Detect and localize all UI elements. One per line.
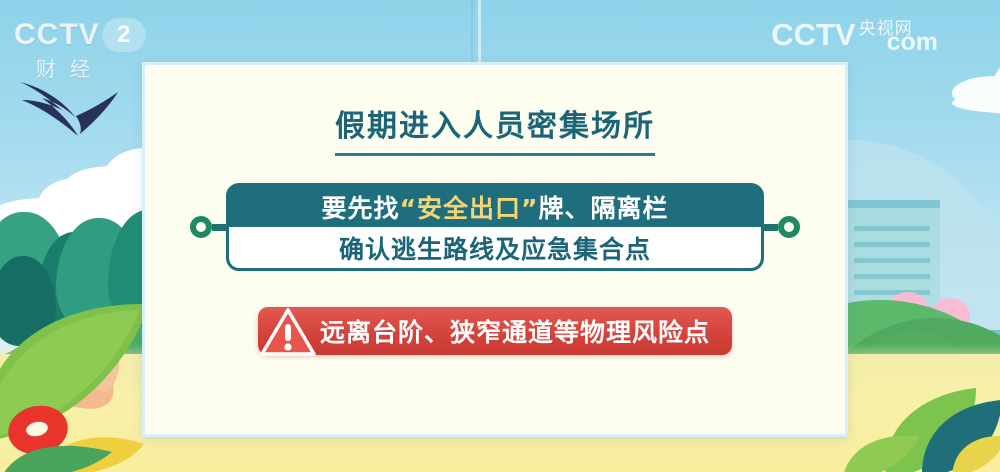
banner-body: 要先找 “安全出口” 牌、隔离栏 确认逃生路线及应急集合点 (226, 183, 764, 271)
cctv-com-suffix: com (887, 28, 938, 57)
risk-alert: 远离台阶、狭窄通道等物理风险点 (258, 307, 732, 355)
cctv2-watermark: CCTV 2 财经 (14, 18, 146, 82)
banner-stem-left (212, 224, 226, 231)
leaf-tiny-bottom-right (952, 432, 1000, 472)
cctv2-logo-row: CCTV 2 (14, 18, 146, 52)
cctv-com-wordmark: CCTV (771, 17, 855, 53)
swallow-icon (18, 74, 122, 140)
screenshot-root: CCTV 2 财经 CCTV 央视网 com 假期进入人员密集场所 (0, 0, 1000, 472)
risk-alert-bar: 远离台阶、狭窄通道等物理风险点 (258, 307, 732, 355)
leaf-small-bottom-right (842, 430, 932, 472)
banner-line1-suffix: 牌、隔离栏 (538, 189, 668, 225)
safety-banner: 要先找 “安全出口” 牌、隔离栏 确认逃生路线及应急集合点 (190, 183, 800, 271)
risk-alert-text: 远离台阶、狭窄通道等物理风险点 (320, 313, 710, 349)
banner-end-dot-left (190, 216, 212, 238)
warning-triangle-icon (260, 308, 316, 356)
cctv-wordmark: CCTV (14, 18, 100, 52)
cctv-com-chinese: 央视网 (859, 14, 913, 39)
page-title: 假期进入人员密集场所 (335, 101, 655, 156)
cctv-com-watermark: CCTV 央视网 com (771, 14, 938, 53)
banner-line-2: 确认逃生路线及应急集合点 (229, 227, 761, 268)
sky-seam (478, 0, 481, 62)
info-card: 假期进入人员密集场所 要先找 “安全出口” 牌、隔离栏 确认逃生路线及应急集合点 (142, 62, 848, 437)
banner-line1-prefix: 要先找 (322, 189, 400, 225)
leaf-green-bottom-left (0, 440, 120, 472)
banner-stem-right (764, 224, 778, 231)
banner-end-dot-right (778, 216, 800, 238)
cctv-channel-number: 2 (102, 18, 146, 52)
sky-seam-shadow (471, 0, 473, 62)
banner-line-1: 要先找 “安全出口” 牌、隔离栏 (229, 186, 761, 227)
card-title-wrap: 假期进入人员密集场所 (145, 101, 845, 156)
banner-line1-highlight: “安全出口” (400, 189, 539, 225)
